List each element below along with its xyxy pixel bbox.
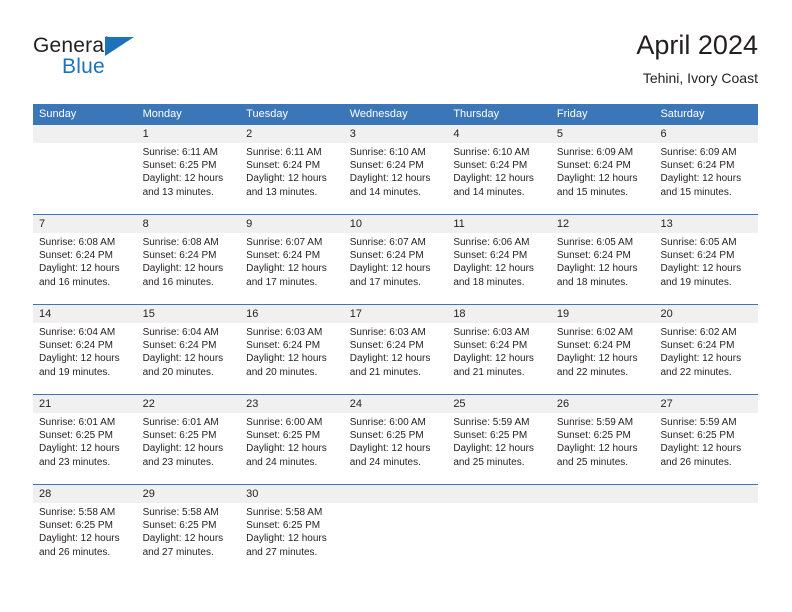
- day-detail-line: and 25 minutes.: [557, 456, 649, 469]
- day-detail-line: and 25 minutes.: [453, 456, 545, 469]
- day-number[interactable]: 29: [137, 485, 241, 503]
- day-detail-line: Sunset: 6:25 PM: [246, 519, 338, 532]
- day-number[interactable]: 26: [551, 395, 655, 413]
- day-detail-line: Sunrise: 6:00 AM: [350, 416, 442, 429]
- day-detail-line: and 20 minutes.: [143, 366, 235, 379]
- day-number[interactable]: 11: [447, 215, 551, 233]
- day-number[interactable]: 13: [654, 215, 758, 233]
- logo-text-blue: Blue: [62, 55, 105, 79]
- calendar-week-row: 282930Sunrise: 5:58 AMSunset: 6:25 PMDay…: [33, 484, 758, 577]
- day-number-band: 78910111213: [33, 215, 758, 233]
- day-detail-line: Daylight: 12 hours: [143, 262, 235, 275]
- day-detail-line: Sunset: 6:25 PM: [453, 429, 545, 442]
- day-detail-line: and 15 minutes.: [660, 186, 752, 199]
- day-detail-line: Sunrise: 6:04 AM: [39, 326, 131, 339]
- day-cell[interactable]: Sunrise: 6:00 AMSunset: 6:25 PMDaylight:…: [240, 413, 344, 484]
- day-detail-line: Daylight: 12 hours: [39, 442, 131, 455]
- day-detail-line: Sunrise: 6:10 AM: [453, 146, 545, 159]
- day-detail-line: Sunset: 6:24 PM: [350, 159, 442, 172]
- day-cell[interactable]: Sunrise: 6:04 AMSunset: 6:24 PMDaylight:…: [33, 323, 137, 394]
- day-number[interactable]: 17: [344, 305, 448, 323]
- day-detail-line: Daylight: 12 hours: [350, 262, 442, 275]
- day-cell-empty: [654, 503, 758, 577]
- weekday-header-friday: Friday: [551, 104, 655, 125]
- day-detail-line: and 24 minutes.: [246, 456, 338, 469]
- day-detail-line: Daylight: 12 hours: [246, 352, 338, 365]
- day-detail-line: Sunrise: 5:58 AM: [246, 506, 338, 519]
- day-detail-line: Sunset: 6:24 PM: [246, 339, 338, 352]
- day-detail-line: Daylight: 12 hours: [660, 172, 752, 185]
- day-detail-line: and 13 minutes.: [143, 186, 235, 199]
- day-detail-line: Sunrise: 5:58 AM: [39, 506, 131, 519]
- day-number[interactable]: 23: [240, 395, 344, 413]
- day-detail-line: Sunrise: 6:07 AM: [350, 236, 442, 249]
- day-detail-line: Daylight: 12 hours: [246, 262, 338, 275]
- calendar-week-row: 123456Sunrise: 6:11 AMSunset: 6:25 PMDay…: [33, 125, 758, 214]
- day-cell[interactable]: Sunrise: 6:10 AMSunset: 6:24 PMDaylight:…: [344, 143, 448, 214]
- day-number[interactable]: 15: [137, 305, 241, 323]
- day-cell[interactable]: Sunrise: 6:10 AMSunset: 6:24 PMDaylight:…: [447, 143, 551, 214]
- day-detail-line: Sunset: 6:25 PM: [350, 429, 442, 442]
- day-detail-line: Sunset: 6:25 PM: [246, 429, 338, 442]
- day-cell-empty: [344, 503, 448, 577]
- location-subtitle: Tehini, Ivory Coast: [636, 68, 758, 88]
- day-cell[interactable]: Sunrise: 6:11 AMSunset: 6:25 PMDaylight:…: [137, 143, 241, 214]
- day-detail-row: Sunrise: 5:58 AMSunset: 6:25 PMDaylight:…: [33, 503, 758, 577]
- day-number[interactable]: 22: [137, 395, 241, 413]
- day-detail-line: Sunset: 6:24 PM: [660, 339, 752, 352]
- day-number[interactable]: 12: [551, 215, 655, 233]
- day-cell[interactable]: Sunrise: 6:03 AMSunset: 6:24 PMDaylight:…: [344, 323, 448, 394]
- day-detail-line: Daylight: 12 hours: [246, 442, 338, 455]
- day-cell[interactable]: Sunrise: 6:08 AMSunset: 6:24 PMDaylight:…: [137, 233, 241, 304]
- day-detail-line: Sunrise: 6:04 AM: [143, 326, 235, 339]
- day-cell[interactable]: Sunrise: 6:05 AMSunset: 6:24 PMDaylight:…: [551, 233, 655, 304]
- day-detail-line: Daylight: 12 hours: [350, 352, 442, 365]
- day-detail-line: Sunrise: 6:09 AM: [660, 146, 752, 159]
- calendar-week-row: 14151617181920Sunrise: 6:04 AMSunset: 6:…: [33, 304, 758, 394]
- day-detail-line: Daylight: 12 hours: [246, 532, 338, 545]
- day-detail-line: and 26 minutes.: [660, 456, 752, 469]
- day-number[interactable]: 24: [344, 395, 448, 413]
- day-detail-line: Sunrise: 6:03 AM: [453, 326, 545, 339]
- weekday-header-monday: Monday: [137, 104, 241, 125]
- day-detail-line: and 16 minutes.: [143, 276, 235, 289]
- day-detail-line: Sunrise: 5:58 AM: [143, 506, 235, 519]
- day-number[interactable]: 1: [137, 125, 241, 143]
- day-number[interactable]: 25: [447, 395, 551, 413]
- day-detail-line: Sunrise: 6:10 AM: [350, 146, 442, 159]
- day-detail-line: Sunset: 6:24 PM: [246, 159, 338, 172]
- day-cell[interactable]: Sunrise: 6:09 AMSunset: 6:24 PMDaylight:…: [654, 143, 758, 214]
- day-detail-line: Sunrise: 6:02 AM: [557, 326, 649, 339]
- page-header: General Blue April 2024 Tehini, Ivory Co…: [33, 28, 758, 98]
- day-detail-line: Daylight: 12 hours: [143, 532, 235, 545]
- day-detail-line: Sunset: 6:25 PM: [557, 429, 649, 442]
- day-detail-line: Sunset: 6:24 PM: [39, 249, 131, 262]
- day-detail-line: and 21 minutes.: [350, 366, 442, 379]
- day-detail-line: Daylight: 12 hours: [39, 262, 131, 275]
- day-cell[interactable]: Sunrise: 5:59 AMSunset: 6:25 PMDaylight:…: [551, 413, 655, 484]
- day-detail-line: and 15 minutes.: [557, 186, 649, 199]
- calendar-week-row: 21222324252627Sunrise: 6:01 AMSunset: 6:…: [33, 394, 758, 484]
- weekday-header-saturday: Saturday: [654, 104, 758, 125]
- day-cell[interactable]: Sunrise: 5:59 AMSunset: 6:25 PMDaylight:…: [654, 413, 758, 484]
- day-number-empty: [344, 485, 448, 503]
- day-cell[interactable]: Sunrise: 6:03 AMSunset: 6:24 PMDaylight:…: [447, 323, 551, 394]
- day-detail-line: Sunset: 6:24 PM: [453, 159, 545, 172]
- day-detail-row: Sunrise: 6:08 AMSunset: 6:24 PMDaylight:…: [33, 233, 758, 304]
- day-number[interactable]: 6: [654, 125, 758, 143]
- day-detail-line: Sunset: 6:24 PM: [557, 249, 649, 262]
- day-detail-line: Sunset: 6:25 PM: [143, 159, 235, 172]
- day-number-empty: [551, 485, 655, 503]
- day-detail-line: Sunset: 6:25 PM: [39, 429, 131, 442]
- day-number-band: 282930: [33, 485, 758, 503]
- day-detail-line: Sunrise: 6:02 AM: [660, 326, 752, 339]
- day-detail-line: Sunset: 6:24 PM: [350, 249, 442, 262]
- day-detail-line: Sunset: 6:24 PM: [39, 339, 131, 352]
- day-cell[interactable]: Sunrise: 6:01 AMSunset: 6:25 PMDaylight:…: [137, 413, 241, 484]
- day-detail-line: and 26 minutes.: [39, 546, 131, 559]
- day-number[interactable]: 30: [240, 485, 344, 503]
- day-detail-line: and 27 minutes.: [143, 546, 235, 559]
- day-detail-line: Sunrise: 6:05 AM: [557, 236, 649, 249]
- day-detail-line: Sunrise: 6:07 AM: [246, 236, 338, 249]
- day-detail-line: Sunrise: 6:03 AM: [246, 326, 338, 339]
- day-cell[interactable]: Sunrise: 6:08 AMSunset: 6:24 PMDaylight:…: [33, 233, 137, 304]
- day-detail-line: Sunrise: 6:11 AM: [246, 146, 338, 159]
- day-cell[interactable]: Sunrise: 6:05 AMSunset: 6:24 PMDaylight:…: [654, 233, 758, 304]
- day-detail-line: Sunset: 6:25 PM: [143, 519, 235, 532]
- day-detail-line: Sunrise: 6:05 AM: [660, 236, 752, 249]
- day-detail-line: and 18 minutes.: [557, 276, 649, 289]
- day-detail-line: Daylight: 12 hours: [453, 352, 545, 365]
- day-detail-line: Daylight: 12 hours: [660, 352, 752, 365]
- day-detail-line: Daylight: 12 hours: [557, 172, 649, 185]
- weekday-header-thursday: Thursday: [447, 104, 551, 125]
- day-cell[interactable]: Sunrise: 6:04 AMSunset: 6:24 PMDaylight:…: [137, 323, 241, 394]
- day-cell[interactable]: Sunrise: 6:01 AMSunset: 6:25 PMDaylight:…: [33, 413, 137, 484]
- day-number[interactable]: 27: [654, 395, 758, 413]
- day-detail-line: Daylight: 12 hours: [453, 442, 545, 455]
- day-detail-row: Sunrise: 6:01 AMSunset: 6:25 PMDaylight:…: [33, 413, 758, 484]
- day-cell[interactable]: Sunrise: 5:59 AMSunset: 6:25 PMDaylight:…: [447, 413, 551, 484]
- day-detail-line: and 14 minutes.: [350, 186, 442, 199]
- day-detail-line: Daylight: 12 hours: [660, 442, 752, 455]
- general-blue-logo: General Blue: [33, 34, 233, 86]
- day-cell[interactable]: Sunrise: 6:02 AMSunset: 6:24 PMDaylight:…: [654, 323, 758, 394]
- day-detail-row: Sunrise: 6:11 AMSunset: 6:25 PMDaylight:…: [33, 143, 758, 214]
- calendar-grid: SundayMondayTuesdayWednesdayThursdayFrid…: [33, 104, 758, 577]
- weekday-header-sunday: Sunday: [33, 104, 137, 125]
- day-detail-line: and 23 minutes.: [39, 456, 131, 469]
- day-detail-line: and 17 minutes.: [246, 276, 338, 289]
- day-detail-line: Daylight: 12 hours: [557, 442, 649, 455]
- day-number[interactable]: 19: [551, 305, 655, 323]
- calendar-weeks: 123456Sunrise: 6:11 AMSunset: 6:25 PMDay…: [33, 125, 758, 577]
- day-number-band: 14151617181920: [33, 305, 758, 323]
- day-detail-line: Sunset: 6:24 PM: [453, 249, 545, 262]
- day-detail-line: and 20 minutes.: [246, 366, 338, 379]
- day-detail-line: Sunrise: 6:01 AM: [39, 416, 131, 429]
- day-number[interactable]: 9: [240, 215, 344, 233]
- day-detail-line: Sunrise: 6:08 AM: [39, 236, 131, 249]
- calendar-page: General Blue April 2024 Tehini, Ivory Co…: [0, 0, 792, 612]
- day-number[interactable]: 4: [447, 125, 551, 143]
- day-number[interactable]: 8: [137, 215, 241, 233]
- day-detail-line: and 21 minutes.: [453, 366, 545, 379]
- day-number[interactable]: 2: [240, 125, 344, 143]
- day-detail-line: and 19 minutes.: [39, 366, 131, 379]
- day-detail-line: Daylight: 12 hours: [143, 352, 235, 365]
- day-cell[interactable]: Sunrise: 6:11 AMSunset: 6:24 PMDaylight:…: [240, 143, 344, 214]
- day-detail-line: Daylight: 12 hours: [350, 442, 442, 455]
- weekday-header-tuesday: Tuesday: [240, 104, 344, 125]
- day-number-band: 123456: [33, 125, 758, 143]
- day-detail-line: Sunset: 6:24 PM: [557, 159, 649, 172]
- day-detail-line: and 22 minutes.: [660, 366, 752, 379]
- day-detail-line: and 19 minutes.: [660, 276, 752, 289]
- day-detail-line: Daylight: 12 hours: [453, 172, 545, 185]
- day-number-empty: [447, 485, 551, 503]
- day-number[interactable]: 20: [654, 305, 758, 323]
- day-number[interactable]: 18: [447, 305, 551, 323]
- day-cell[interactable]: Sunrise: 5:58 AMSunset: 6:25 PMDaylight:…: [137, 503, 241, 577]
- day-detail-line: Daylight: 12 hours: [143, 172, 235, 185]
- weekday-header-wednesday: Wednesday: [344, 104, 448, 125]
- day-detail-line: Sunset: 6:25 PM: [660, 429, 752, 442]
- day-detail-line: Daylight: 12 hours: [660, 262, 752, 275]
- day-detail-line: Sunrise: 6:01 AM: [143, 416, 235, 429]
- day-number-band: 21222324252627: [33, 395, 758, 413]
- day-detail-line: Sunset: 6:24 PM: [660, 249, 752, 262]
- day-detail-line: Sunset: 6:24 PM: [246, 249, 338, 262]
- day-number-empty: [654, 485, 758, 503]
- day-detail-line: Sunrise: 6:09 AM: [557, 146, 649, 159]
- day-detail-line: Daylight: 12 hours: [39, 352, 131, 365]
- day-cell[interactable]: Sunrise: 6:02 AMSunset: 6:24 PMDaylight:…: [551, 323, 655, 394]
- day-number-empty: [33, 125, 137, 143]
- day-cell[interactable]: Sunrise: 6:06 AMSunset: 6:24 PMDaylight:…: [447, 233, 551, 304]
- day-detail-line: and 17 minutes.: [350, 276, 442, 289]
- day-detail-line: and 22 minutes.: [557, 366, 649, 379]
- day-number[interactable]: 16: [240, 305, 344, 323]
- day-detail-line: and 27 minutes.: [246, 546, 338, 559]
- day-cell[interactable]: Sunrise: 5:58 AMSunset: 6:25 PMDaylight:…: [33, 503, 137, 577]
- day-detail-line: and 14 minutes.: [453, 186, 545, 199]
- day-detail-line: Daylight: 12 hours: [557, 262, 649, 275]
- weekday-header-row: SundayMondayTuesdayWednesdayThursdayFrid…: [33, 104, 758, 125]
- title-block: April 2024 Tehini, Ivory Coast: [636, 28, 758, 88]
- day-detail-line: and 23 minutes.: [143, 456, 235, 469]
- day-cell-empty: [33, 143, 137, 214]
- day-number[interactable]: 7: [33, 215, 137, 233]
- day-cell[interactable]: Sunrise: 6:09 AMSunset: 6:24 PMDaylight:…: [551, 143, 655, 214]
- day-number[interactable]: 3: [344, 125, 448, 143]
- day-detail-line: Sunrise: 5:59 AM: [453, 416, 545, 429]
- day-detail-line: Sunrise: 6:03 AM: [350, 326, 442, 339]
- calendar-week-row: 78910111213Sunrise: 6:08 AMSunset: 6:24 …: [33, 214, 758, 304]
- day-detail-line: Daylight: 12 hours: [39, 532, 131, 545]
- day-detail-line: Daylight: 12 hours: [350, 172, 442, 185]
- day-detail-line: Sunset: 6:24 PM: [143, 339, 235, 352]
- day-detail-line: Sunset: 6:24 PM: [350, 339, 442, 352]
- day-detail-line: Sunset: 6:25 PM: [143, 429, 235, 442]
- day-detail-line: Daylight: 12 hours: [453, 262, 545, 275]
- day-cell[interactable]: Sunrise: 6:03 AMSunset: 6:24 PMDaylight:…: [240, 323, 344, 394]
- day-detail-line: Sunset: 6:24 PM: [143, 249, 235, 262]
- day-detail-line: Daylight: 12 hours: [143, 442, 235, 455]
- day-detail-line: Sunset: 6:25 PM: [39, 519, 131, 532]
- day-detail-line: Sunrise: 5:59 AM: [660, 416, 752, 429]
- day-number[interactable]: 5: [551, 125, 655, 143]
- day-detail-line: Sunrise: 6:00 AM: [246, 416, 338, 429]
- day-detail-line: Daylight: 12 hours: [557, 352, 649, 365]
- day-detail-line: Sunset: 6:24 PM: [660, 159, 752, 172]
- day-detail-line: Sunrise: 6:06 AM: [453, 236, 545, 249]
- day-detail-line: Sunrise: 6:11 AM: [143, 146, 235, 159]
- day-cell[interactable]: Sunrise: 6:07 AMSunset: 6:24 PMDaylight:…: [344, 233, 448, 304]
- day-number[interactable]: 21: [33, 395, 137, 413]
- day-detail-line: Sunrise: 5:59 AM: [557, 416, 649, 429]
- page-title: April 2024: [636, 28, 758, 62]
- day-detail-row: Sunrise: 6:04 AMSunset: 6:24 PMDaylight:…: [33, 323, 758, 394]
- logo-triangle-icon: [105, 37, 134, 56]
- day-number[interactable]: 10: [344, 215, 448, 233]
- day-detail-line: and 18 minutes.: [453, 276, 545, 289]
- day-detail-line: and 16 minutes.: [39, 276, 131, 289]
- day-cell[interactable]: Sunrise: 6:00 AMSunset: 6:25 PMDaylight:…: [344, 413, 448, 484]
- day-detail-line: Sunrise: 6:08 AM: [143, 236, 235, 249]
- day-cell[interactable]: Sunrise: 6:07 AMSunset: 6:24 PMDaylight:…: [240, 233, 344, 304]
- day-cell-empty: [551, 503, 655, 577]
- day-number[interactable]: 14: [33, 305, 137, 323]
- day-detail-line: Daylight: 12 hours: [246, 172, 338, 185]
- day-cell-empty: [447, 503, 551, 577]
- day-detail-line: and 24 minutes.: [350, 456, 442, 469]
- day-detail-line: Sunset: 6:24 PM: [453, 339, 545, 352]
- day-cell[interactable]: Sunrise: 5:58 AMSunset: 6:25 PMDaylight:…: [240, 503, 344, 577]
- day-detail-line: Sunset: 6:24 PM: [557, 339, 649, 352]
- day-detail-line: and 13 minutes.: [246, 186, 338, 199]
- day-number[interactable]: 28: [33, 485, 137, 503]
